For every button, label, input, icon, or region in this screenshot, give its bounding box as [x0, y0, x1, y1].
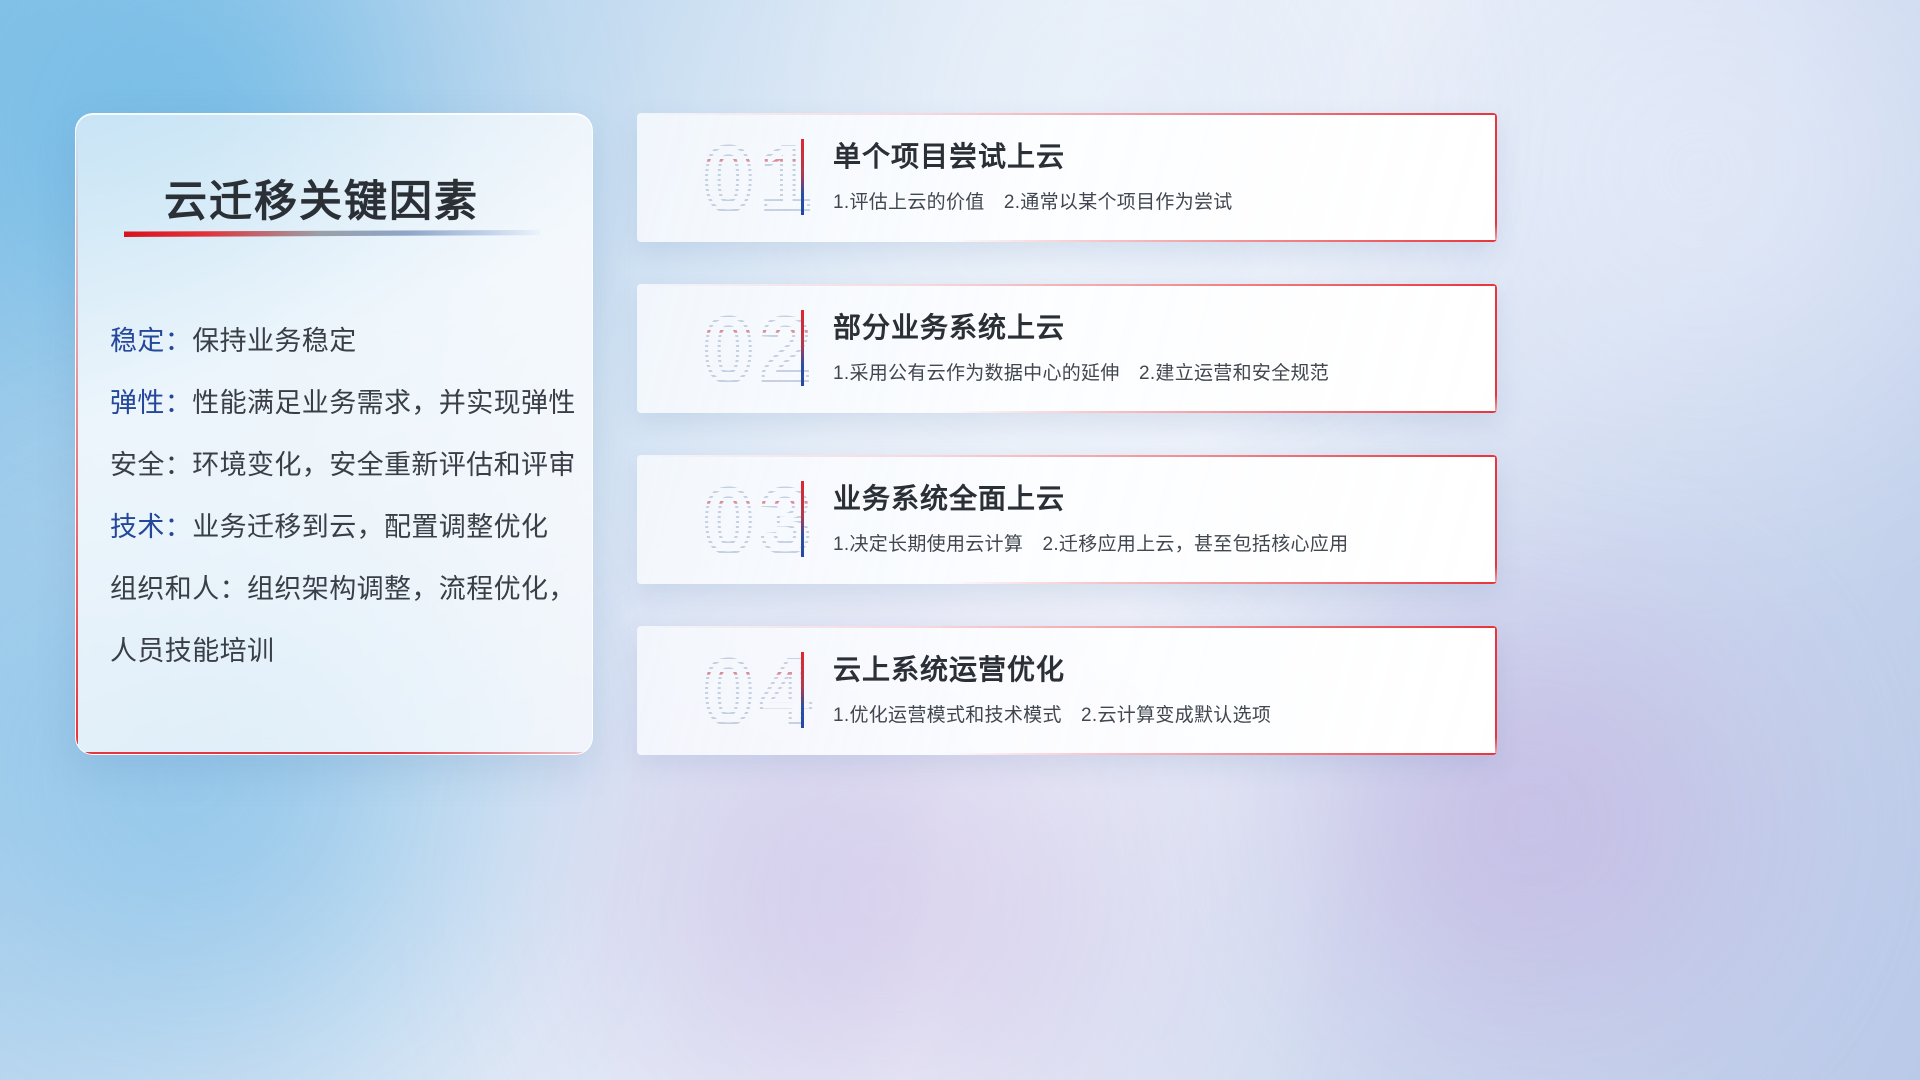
step-description: 1.评估上云的价值 2.通常以某个项目作为尝试	[833, 187, 1233, 214]
key-factor-text: 保持业务稳定	[192, 326, 356, 356]
card-bottom-accent	[947, 411, 1497, 413]
key-factor-item: 安全：环境变化，安全重新评估和评审	[110, 434, 566, 496]
step-description: 1.采用公有云作为数据中心的延伸 2.建立运营和安全规范	[833, 358, 1329, 385]
key-factor-text: 环境变化，安全重新评估和评审	[192, 450, 576, 480]
title-underline-rule	[124, 230, 540, 237]
step-divider-bar	[801, 652, 804, 728]
key-factor-item: 弹性：性能满足业务需求，并实现弹性	[110, 372, 566, 434]
key-factor-label: 弹性：	[110, 388, 192, 418]
step-divider-bar	[801, 481, 804, 557]
key-factor-label: 稳定：	[110, 326, 192, 356]
step-card-03[interactable]: 0303业务系统全面上云1.决定长期使用云计算 2.迁移应用上云，甚至包括核心应…	[637, 455, 1497, 584]
key-factor-text: 业务迁移到云，配置调整优化	[192, 512, 548, 542]
key-factor-text: 性能满足业务需求，并实现弹性	[192, 388, 576, 418]
step-divider-bar	[801, 310, 804, 386]
key-factor-item: 组织和人：组织架构调整，流程优化，	[110, 558, 566, 620]
step-card-02[interactable]: 0202部分业务系统上云1.采用公有云作为数据中心的延伸 2.建立运营和安全规范	[637, 284, 1497, 413]
step-card-01[interactable]: 0101单个项目尝试上云1.评估上云的价值 2.通常以某个项目作为尝试	[637, 113, 1497, 242]
step-title: 部分业务系统上云	[833, 306, 1065, 346]
key-factor-label: 技术：	[110, 512, 192, 542]
step-title: 云上系统运营优化	[833, 648, 1065, 688]
key-factor-item: 稳定：保持业务稳定	[110, 310, 566, 372]
step-title: 单个项目尝试上云	[833, 135, 1065, 175]
card-bottom-accent	[947, 582, 1497, 584]
key-factors-panel: 云迁移关键因素 稳定：保持业务稳定弹性：性能满足业务需求，并实现弹性安全：环境变…	[75, 113, 593, 755]
step-card-04[interactable]: 0404云上系统运营优化1.优化运营模式和技术模式 2.云计算变成默认选项	[637, 626, 1497, 755]
step-divider-bar	[801, 139, 804, 215]
key-factor-text: 组织架构调整，流程优化，	[247, 574, 576, 604]
key-factor-label: 安全：	[110, 450, 192, 480]
key-factor-item: 人员技能培训	[110, 620, 566, 682]
step-title: 业务系统全面上云	[833, 477, 1065, 517]
key-factor-item: 技术：业务迁移到云，配置调整优化	[110, 496, 566, 558]
key-factors-list: 稳定：保持业务稳定弹性：性能满足业务需求，并实现弹性安全：环境变化，安全重新评估…	[110, 310, 566, 682]
key-factor-label: 组织和人：	[110, 574, 247, 604]
card-bottom-accent	[947, 753, 1497, 755]
card-bottom-accent	[947, 240, 1497, 242]
key-factor-text: 人员技能培训	[110, 636, 274, 666]
step-description: 1.优化运营模式和技术模式 2.云计算变成默认选项	[833, 700, 1271, 727]
page-title: 云迁移关键因素	[164, 167, 479, 229]
step-description: 1.决定长期使用云计算 2.迁移应用上云，甚至包括核心应用	[833, 529, 1348, 556]
